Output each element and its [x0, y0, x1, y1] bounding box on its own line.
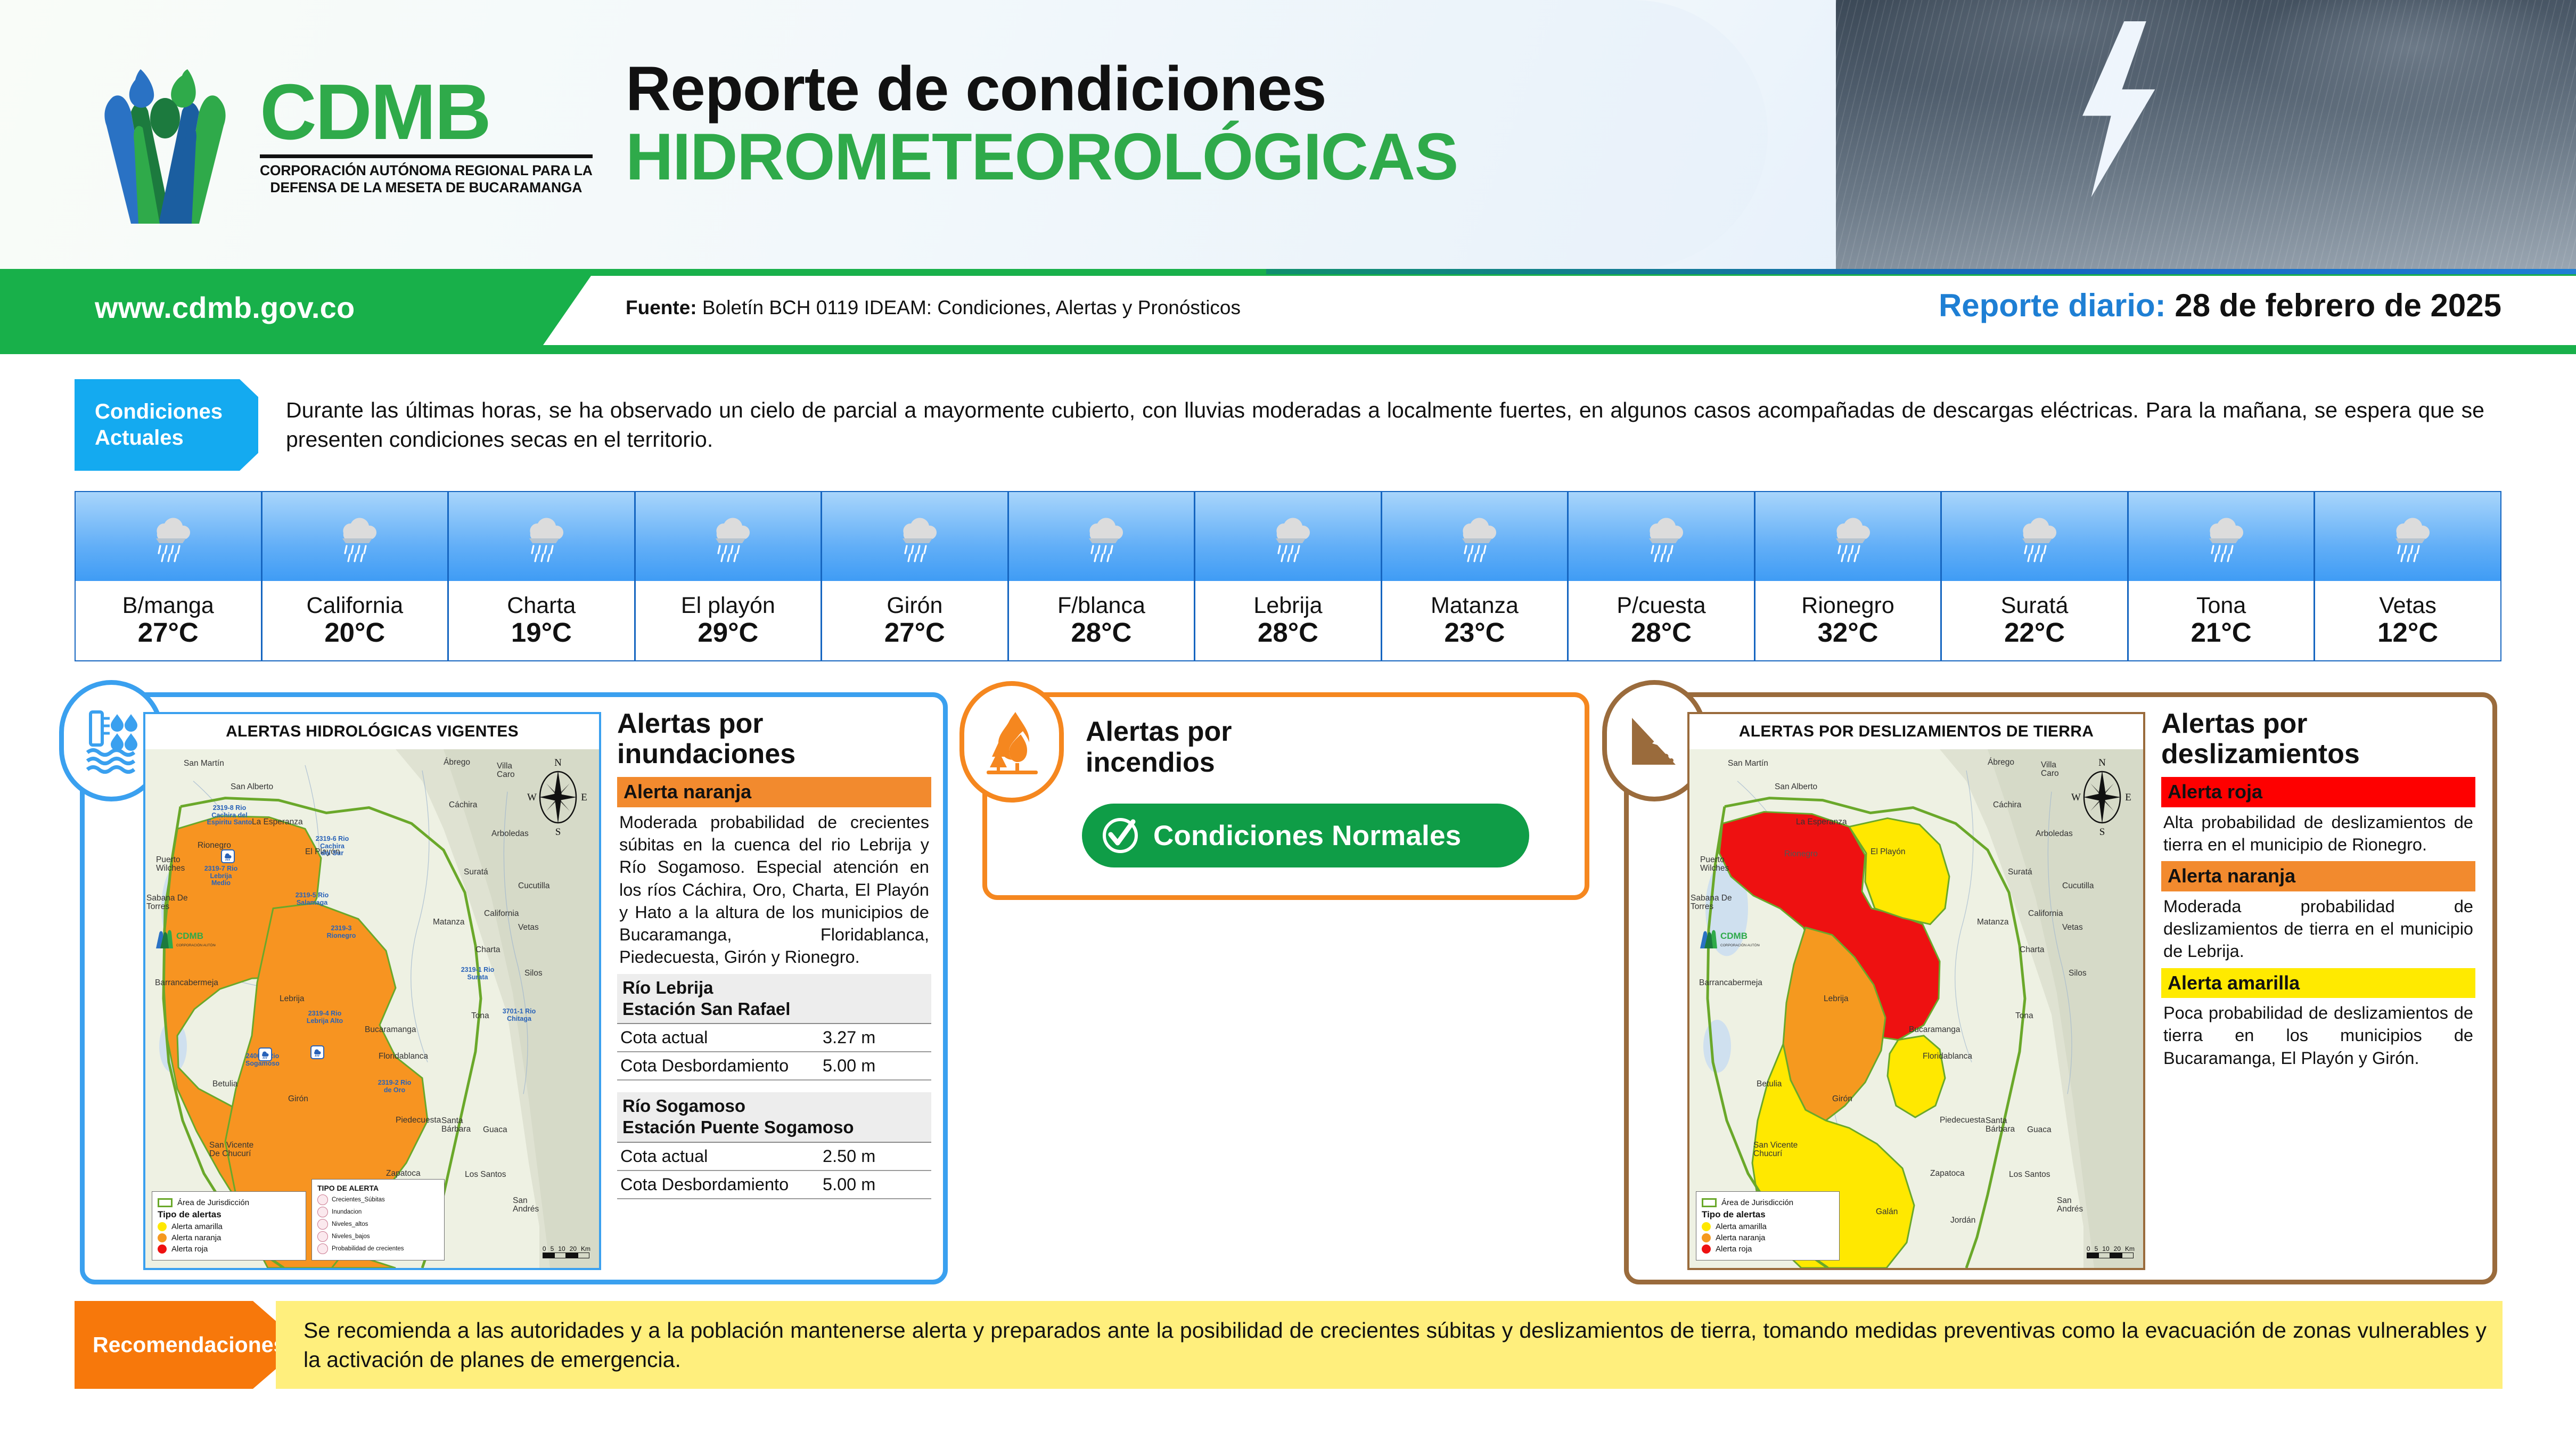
weather-temperature: 27°C [138, 618, 199, 648]
map-label-el-playon: El Playón [1871, 847, 1905, 857]
flood-map-legend-alert-types: Área de Jurisdicción Tipo de alertas Ale… [152, 1191, 306, 1260]
map-label-vetas: Vetas [2062, 923, 2083, 932]
map-label-lebrija: Lebrija [1824, 994, 1849, 1004]
map-label-silos: Silos [2069, 969, 2087, 978]
map-label-zapatoca: Zapatoca [386, 1169, 421, 1178]
report-date-block: Reporte diario: 28 de febrero de 2025 [1939, 287, 2501, 324]
source-value: Boletín BCH 0119 IDEAM: Condiciones, Ale… [702, 297, 1241, 318]
weather-city-name: El playón [681, 594, 775, 618]
flood-map-title: ALERTAS HIDROLÓGICAS VIGENTES [145, 714, 599, 749]
station-row-value: 2.50 m [823, 1147, 924, 1166]
weather-icon-wrap [76, 492, 261, 581]
report-date-label: Reporte diario: [1939, 288, 2166, 323]
scale-num-1: 5 [2095, 1245, 2098, 1252]
weather-icon-wrap [1569, 492, 1754, 581]
weather-info: B/manga27°C [76, 581, 261, 660]
map-label-bucaramanga: Bucaramanga [365, 1025, 416, 1035]
legend-type-row: Niveles_bajos [317, 1231, 439, 1242]
map-label-puerto-wilches: PuertoWilches [1700, 856, 1729, 873]
legend-type-3: Niveles_bajos [332, 1233, 370, 1240]
map-label-san-andres: SanAndrés [2057, 1197, 2083, 1214]
flood-map-canvas: N S E W San Martín San Alberto La Espera… [145, 749, 599, 1268]
flood-heading-line2: inundaciones [617, 739, 795, 769]
weather-cell-lebrija: Lebrija28°C [1195, 492, 1382, 660]
title-line-2: HIDROMETEOROLÓGICAS [626, 122, 1850, 192]
weather-cell-f-blanca: F/blanca28°C [1009, 492, 1196, 660]
legend-type-1: Inundacion [332, 1209, 362, 1215]
weather-cell-gir-n: Girón27°C [822, 492, 1009, 660]
scalebar-numbers: 0 5 10 20 Km [2087, 1245, 2135, 1252]
map-label-betulia: Betulia [1757, 1079, 1782, 1089]
landslide-band-yellow: Alerta amarilla [2161, 968, 2475, 998]
map-station-icon-lebrija-medio [221, 849, 235, 863]
fire-status-badge: Condiciones Normales [1082, 804, 1529, 867]
map-label-surata: Suratá [2008, 867, 2032, 877]
weather-city-name: F/blanca [1057, 594, 1145, 618]
station-river-name: Río Sogamoso [622, 1096, 745, 1116]
map-label-la-esperanza: La Esperanza [1796, 817, 1847, 827]
map-label-piedecuesta: Piedecuesta [396, 1116, 441, 1125]
weather-info: Lebrija28°C [1195, 581, 1381, 660]
station-name: Estación San Rafael [622, 999, 790, 1019]
landslide-alert-details: Alertas por deslizamientos Alerta roja A… [2161, 709, 2475, 1075]
current-conditions-section: Condiciones Actuales Durante las últimas… [75, 379, 2503, 471]
lightning-bolt-icon [2060, 21, 2171, 197]
check-circle-icon [1100, 815, 1141, 856]
legend-type-4: Probabilidad de crecientes [332, 1246, 404, 1252]
map-label-villa-caro: VillaCaro [2041, 761, 2059, 779]
weather-icon-wrap [1382, 492, 1568, 581]
legend-orange-label: Alerta naranja [1716, 1233, 1765, 1242]
landslide-map-legend: Área de Jurisdicción Tipo de alertas Ale… [1696, 1191, 1840, 1260]
landslide-alert-map[interactable]: ALERTAS POR DESLIZAMIENTOS DE TIERRA [1687, 712, 2145, 1270]
page-title: Reporte de condiciones HIDROMETEOROLÓGIC… [626, 56, 1850, 192]
yellow-alert-dot-icon [158, 1222, 167, 1231]
scalebar-ticks [2087, 1252, 2135, 1258]
map-label-lebrija: Lebrija [280, 994, 305, 1004]
map-label-abrego: Ábrego [444, 758, 470, 767]
weather-icon-wrap [2315, 492, 2500, 581]
station-row: Cota Desbordamiento 5.00 m [617, 1052, 931, 1080]
weather-icon-wrap [636, 492, 821, 581]
weather-info: Tona21°C [2129, 581, 2314, 660]
svg-text:N: N [2098, 757, 2106, 768]
jurisdiction-swatch-icon [158, 1198, 173, 1207]
legend-type-row: Inundacion [317, 1207, 439, 1217]
cloud-rain-icon [145, 509, 191, 564]
map-label-los-santos: Los Santos [2009, 1170, 2050, 1180]
map-label-cachira: Cáchira [449, 800, 477, 810]
svg-text:N: N [554, 757, 562, 768]
info-bar-underline [0, 349, 2576, 354]
legend-red-label: Alerta roja [1716, 1245, 1752, 1254]
map-label-galan: Galán [1876, 1207, 1898, 1217]
map-cdmb-watermark: CDMB CORPORACIÓN AUTÓNOMA [1696, 925, 1760, 951]
station-block-sogamoso: Río Sogamoso Estación Puente Sogamoso Co… [617, 1092, 931, 1199]
landslide-alert-panel: ALERTAS POR DESLIZAMIENTOS DE TIERRA [1624, 692, 2497, 1284]
svg-text:S: S [555, 826, 561, 837]
map-label-sabana-de-torres: Sabana DeTorres [1691, 894, 1732, 912]
weather-cell-el-play-n: El playón29°C [636, 492, 823, 660]
legend-jurisdiction-row: Área de Jurisdicción [158, 1198, 300, 1207]
map-river-2319-8: 2319-8 RioCachira delEspiritu Santo [203, 805, 256, 826]
rain-texture [1836, 0, 2576, 269]
storm-photo [1836, 0, 2576, 269]
weather-city-name: Matanza [1431, 594, 1519, 618]
station-row: Cota actual 2.50 m [617, 1143, 931, 1171]
weather-city-name: Charta [507, 594, 576, 618]
map-label-barrancabermeja: Barrancabermeja [1699, 978, 1762, 988]
flood-alert-panel: ALERTAS HIDROLÓGICAS VIGENTES [80, 692, 948, 1284]
weather-city-name: Suratá [2001, 594, 2069, 618]
logo-acronym: CDMB [260, 75, 593, 150]
weather-city-name: P/cuesta [1617, 594, 1705, 618]
legend-type-row: Crecientes_Súbitas [317, 1194, 439, 1205]
legend-jurisdiction-label: Área de Jurisdicción [1721, 1198, 1793, 1207]
weather-icon-wrap [1755, 492, 1941, 581]
map-label-barrancabermeja: Barrancabermeja [155, 978, 218, 988]
legend-type-0: Crecientes_Súbitas [332, 1197, 385, 1203]
map-label-jordan: Jordán [1950, 1216, 1975, 1225]
logo-subtitle-line2: DEFENSA DE LA MESETA DE BUCARAMANGA [260, 179, 593, 196]
legend-item-yellow: Alerta amarilla [1702, 1222, 1834, 1231]
flood-map-scalebar: 0 5 10 20 Km [543, 1245, 590, 1258]
cloud-rain-icon [892, 509, 938, 564]
map-label-arboledas: Arboledas [2036, 829, 2073, 839]
orange-alert-dot-icon [1702, 1233, 1711, 1242]
map-label-charta: Charta [475, 945, 501, 955]
map-label-san-andres: SanAndrés [513, 1197, 539, 1214]
cdmb-logomark-icon [80, 48, 250, 224]
weather-temperature: 12°C [2377, 618, 2438, 648]
scale-unit: Km [2125, 1245, 2135, 1252]
recommendations-section: Recomendaciones: Se recomienda a las aut… [75, 1301, 2503, 1389]
weather-cell-vetas: Vetas12°C [2315, 492, 2500, 660]
weather-city-name: Tona [2196, 594, 2246, 618]
weather-info: Rionegro32°C [1755, 581, 1941, 660]
recommendations-tag: Recomendaciones: [75, 1301, 303, 1389]
map-label-sabana-de-torres: Sabana DeTorres [146, 894, 188, 912]
compass-rose-icon: N S E W [2071, 757, 2134, 837]
station-row-label: Cota actual [620, 1028, 708, 1047]
svg-text:W: W [527, 792, 537, 803]
flood-alert-text: Moderada probabilidad de crecientes súbi… [617, 807, 931, 974]
red-alert-dot-icon [158, 1245, 167, 1254]
map-label-san-vicente: San VicenteChucurí [1753, 1141, 1798, 1159]
report-date-value: 28 de febrero de 2025 [2175, 288, 2501, 323]
landslide-heading: Alertas por deslizamientos [2161, 709, 2475, 769]
map-label-floridablanca: Floridablanca [1923, 1052, 1972, 1061]
weather-info: P/cuesta28°C [1569, 581, 1754, 660]
svg-text:CDMB: CDMB [1720, 931, 1748, 941]
weather-info: Matanza23°C [1382, 581, 1568, 660]
map-cdmb-watermark: CDMB CORPORACIÓN AUTÓNOMA [152, 925, 216, 951]
weather-cell-surat-: Suratá22°C [1942, 492, 2129, 660]
landslide-map-scalebar: 0 5 10 20 Km [2087, 1245, 2135, 1258]
cloud-rain-icon [332, 509, 378, 564]
station-row-value: 5.00 m [823, 1056, 924, 1076]
weather-temperature: 29°C [698, 618, 758, 648]
station-row: Cota actual 3.27 m [617, 1024, 931, 1052]
map-label-vetas: Vetas [518, 923, 539, 932]
weather-icon-wrap [1195, 492, 1381, 581]
map-label-arboledas: Arboledas [491, 829, 529, 839]
map-label-charta: Charta [2020, 945, 2045, 955]
weather-temperature: 23°C [1445, 618, 1505, 648]
map-label-giron: Girón [288, 1094, 308, 1104]
scale-num-2: 10 [558, 1245, 565, 1252]
scale-num-2: 10 [2102, 1245, 2109, 1252]
weather-icon-wrap [2129, 492, 2314, 581]
map-label-betulia: Betulia [212, 1079, 237, 1089]
title-line-1: Reporte de condiciones [626, 56, 1850, 122]
legend-yellow-label: Alerta amarilla [171, 1222, 223, 1231]
map-label-santa-barbara: SantaBárbara [1986, 1117, 2015, 1134]
scale-num-0: 0 [543, 1245, 546, 1252]
map-station-icon-lebrija-alto [310, 1045, 324, 1059]
weather-icon-wrap [449, 492, 634, 581]
current-conditions-body: Durante las últimas horas, se ha observa… [258, 379, 2503, 471]
map-river-3701-1: 3701-1 RioChitaga [499, 1008, 539, 1022]
niveles-bajos-icon [317, 1231, 328, 1242]
map-label-zapatoca: Zapatoca [1930, 1169, 1965, 1178]
logo-divider [260, 154, 593, 158]
station-header-lebrija: Río Lebrija Estación San Rafael [617, 974, 931, 1025]
page-header: CDMB CORPORACIÓN AUTÓNOMA REGIONAL PARA … [0, 0, 2576, 269]
weather-temperature: 28°C [1258, 618, 1318, 648]
map-label-tona: Tona [2015, 1011, 2033, 1021]
fire-alert-panel: Alertas por incendios Condiciones Normal… [982, 692, 1589, 900]
landslide-band-red: Alerta roja [2161, 777, 2475, 807]
landslide-map-title: ALERTAS POR DESLIZAMIENTOS DE TIERRA [1689, 714, 2143, 749]
svg-text:E: E [2125, 792, 2131, 803]
source-label: Fuente: [626, 297, 697, 318]
map-label-san-martin: San Martín [184, 759, 224, 768]
weather-city-name: Rionegro [1801, 594, 1894, 618]
scalebar-ticks [543, 1252, 590, 1258]
source-text: Fuente: Boletín BCH 0119 IDEAM: Condicio… [626, 297, 1241, 319]
legend-jurisdiction-label: Área de Jurisdicción [177, 1198, 249, 1207]
forest-fire-icon [959, 681, 1064, 803]
weather-cell-b-manga: B/manga27°C [76, 492, 262, 660]
legend-red-label: Alerta roja [171, 1245, 208, 1254]
station-row-label: Cota Desbordamiento [620, 1056, 789, 1076]
weather-info: California20°C [262, 581, 448, 660]
weather-info: Vetas12°C [2315, 581, 2500, 660]
cloud-rain-icon [1265, 509, 1311, 564]
station-row-label: Cota Desbordamiento [620, 1175, 789, 1194]
map-label-puerto-wilches: PuertoWilches [156, 856, 185, 873]
station-row: Cota Desbordamiento 5.00 m [617, 1171, 931, 1199]
map-label-san-martin: San Martín [1728, 759, 1768, 768]
map-river-2319-5: 2319-5 RioSalamaga [288, 892, 336, 906]
orange-alert-dot-icon [158, 1233, 167, 1242]
weather-city-name: Vetas [2379, 594, 2436, 618]
alert-panels: ALERTAS HIDROLÓGICAS VIGENTES [0, 686, 2576, 1272]
map-river-2319-2: 2319-2 Riode Oro [373, 1079, 416, 1094]
jurisdiction-swatch-icon [1702, 1198, 1717, 1207]
weather-temperature: 32°C [1818, 618, 1878, 648]
weather-temperature: 19°C [511, 618, 572, 648]
map-label-california: California [484, 909, 519, 919]
map-river-2319-4: 2319-4 RioLebrija Alto [300, 1010, 350, 1025]
station-row-value: 5.00 m [823, 1175, 924, 1194]
cloud-rain-icon [1078, 509, 1124, 564]
map-label-villa-caro: VillaCaro [497, 762, 515, 780]
weather-temperature: 28°C [1071, 618, 1131, 648]
svg-text:CORPORACIÓN AUTÓNOMA: CORPORACIÓN AUTÓNOMA [1720, 943, 1760, 947]
svg-text:S: S [2099, 826, 2105, 837]
landslide-text-red: Alta probabilidad de deslizamientos de t… [2161, 807, 2475, 862]
map-label-rionegro: Rionegro [1784, 849, 1818, 859]
svg-text:E: E [581, 792, 587, 803]
map-label-santa-barbara: SantaBárbara [441, 1117, 471, 1134]
weather-icon-wrap [822, 492, 1007, 581]
map-label-california: California [2028, 909, 2063, 919]
map-label-abrego: Ábrego [1988, 758, 2014, 767]
inundacion-icon [317, 1207, 328, 1217]
logo-subtitle-line1: CORPORACIÓN AUTÓNOMA REGIONAL PARA LA [260, 162, 593, 179]
info-bar: www.cdmb.gov.co Fuente: Boletín BCH 0119… [0, 269, 2576, 351]
fire-status-text: Condiciones Normales [1153, 820, 1461, 852]
compass-rose-icon: N S E W [527, 757, 589, 837]
landslide-heading-line1: Alertas por [2161, 708, 2308, 739]
website-link[interactable]: www.cdmb.gov.co [95, 290, 355, 325]
map-label-los-santos: Los Santos [465, 1170, 506, 1180]
map-label-surata: Suratá [464, 867, 488, 877]
landslide-band-orange: Alerta naranja [2161, 861, 2475, 891]
map-river-2319-3: 2319-3Rionegro [320, 925, 363, 939]
current-conditions-text: Durante las últimas horas, se ha observa… [286, 396, 2484, 454]
niveles-altos-icon [317, 1219, 328, 1230]
scale-num-3: 20 [570, 1245, 577, 1252]
weather-city-name: Girón [887, 594, 942, 618]
scale-unit: Km [581, 1245, 590, 1252]
weather-cell-california: California20°C [262, 492, 449, 660]
cloud-rain-icon [2385, 509, 2431, 564]
cloud-rain-icon [2198, 509, 2244, 564]
flood-alert-details: Alertas por inundaciones Alerta naranja … [617, 709, 931, 1199]
weather-cell-charta: Charta19°C [449, 492, 636, 660]
station-spacer [617, 1080, 931, 1092]
map-label-cucutilla: Cucutilla [2062, 881, 2094, 891]
map-label-tona: Tona [471, 1011, 489, 1021]
landslide-heading-line2: deslizamientos [2161, 739, 2360, 769]
weather-cell-p-cuesta: P/cuesta28°C [1569, 492, 1755, 660]
map-label-cachira: Cáchira [1993, 800, 2021, 810]
cdmb-logo: CDMB CORPORACIÓN AUTÓNOMA REGIONAL PARA … [80, 43, 639, 229]
landslide-text-orange: Moderada probabilidad de deslizamientos … [2161, 891, 2475, 968]
current-conditions-tag: Condiciones Actuales [75, 379, 288, 471]
cloud-rain-icon [519, 509, 564, 564]
weather-temperature: 22°C [2004, 618, 2065, 648]
legend-types-title: TIPO DE ALERTA [317, 1184, 439, 1192]
map-label-matanza: Matanza [433, 918, 464, 927]
weather-city-name: B/manga [122, 594, 214, 618]
legend-item-red: Alerta roja [158, 1245, 300, 1254]
map-label-san-alberto: San Alberto [1775, 782, 1817, 792]
map-label-floridablanca: Floridablanca [379, 1052, 428, 1061]
weather-icon-wrap [262, 492, 448, 581]
flood-alert-map[interactable]: ALERTAS HIDROLÓGICAS VIGENTES [143, 712, 601, 1270]
cloud-rain-icon [2012, 509, 2057, 564]
map-station-icon-sogamoso [258, 1047, 272, 1061]
weather-info: Girón27°C [822, 581, 1007, 660]
map-label-cucutilla: Cucutilla [518, 881, 549, 891]
weather-city-name: Lebrija [1253, 594, 1322, 618]
weather-forecast-strip: B/manga27°C California20°C [75, 491, 2501, 661]
weather-info: El playón29°C [636, 581, 821, 660]
svg-text:CDMB: CDMB [176, 931, 203, 941]
red-alert-dot-icon [1702, 1245, 1711, 1254]
station-river-name: Río Lebrija [622, 978, 713, 997]
cloud-rain-icon [1451, 509, 1497, 564]
weather-info: Suratá22°C [1942, 581, 2127, 660]
yellow-alert-dot-icon [1702, 1222, 1711, 1231]
flood-heading-line1: Alertas por [617, 708, 764, 739]
weather-info: F/blanca28°C [1009, 581, 1194, 660]
flood-alert-band: Alerta naranja [617, 777, 931, 807]
weather-temperature: 20°C [324, 618, 385, 648]
weather-cell-matanza: Matanza23°C [1382, 492, 1569, 660]
svg-text:W: W [2071, 792, 2081, 803]
fire-heading-line1: Alertas por [1086, 716, 1232, 747]
map-label-bucaramanga: Bucaramanga [1909, 1025, 1960, 1035]
scalebar-numbers: 0 5 10 20 Km [543, 1245, 590, 1252]
scale-num-0: 0 [2087, 1245, 2090, 1252]
scale-num-1: 5 [551, 1245, 554, 1252]
legend-type-row: Niveles_altos [317, 1219, 439, 1230]
map-label-piedecuesta: Piedecuesta [1940, 1116, 1985, 1125]
station-block-lebrija: Río Lebrija Estación San Rafael Cota act… [617, 974, 931, 1081]
map-label-giron: Girón [1832, 1094, 1852, 1104]
scale-num-3: 20 [2114, 1245, 2121, 1252]
map-label-san-alberto: San Alberto [231, 782, 273, 792]
weather-info: Charta19°C [449, 581, 634, 660]
flood-heading: Alertas por inundaciones [617, 709, 931, 769]
weather-cell-rionegro: Rionegro32°C [1755, 492, 1942, 660]
weather-city-name: California [306, 594, 403, 618]
legend-item-orange: Alerta naranja [158, 1233, 300, 1242]
legend-orange-label: Alerta naranja [171, 1233, 221, 1242]
map-label-guaca: Guaca [2027, 1125, 2052, 1135]
landslide-map-canvas: N S E W San Martín San Alberto La Espera… [1689, 749, 2143, 1268]
map-label-guaca: Guaca [483, 1125, 507, 1135]
map-label-silos: Silos [524, 969, 543, 978]
weather-cell-tona: Tona21°C [2129, 492, 2316, 660]
legend-type-2: Niveles_altos [332, 1221, 368, 1227]
fire-heading-line2: incendios [1086, 747, 1215, 778]
weather-temperature: 21°C [2191, 618, 2252, 648]
station-name: Estación Puente Sogamoso [622, 1117, 854, 1137]
recommendations-tag-label: Recomendaciones: [93, 1332, 293, 1357]
probabilidad-crecientes-icon [317, 1243, 328, 1254]
legend-yellow-label: Alerta amarilla [1716, 1222, 1767, 1231]
legend-item-red: Alerta roja [1702, 1245, 1834, 1254]
weather-icon-wrap [1942, 492, 2127, 581]
map-river-2319-1: 2319-1 RioSurata [456, 967, 499, 981]
legend-title: Tipo de alertas [158, 1209, 300, 1220]
legend-jurisdiction-row: Área de Jurisdicción [1702, 1198, 1834, 1207]
map-label-la-esperanza: La Esperanza [252, 817, 303, 827]
legend-item-orange: Alerta naranja [1702, 1233, 1834, 1242]
svg-text:CORPORACIÓN AUTÓNOMA: CORPORACIÓN AUTÓNOMA [176, 943, 216, 947]
station-row-value: 3.27 m [823, 1028, 924, 1047]
gradient-accent [1266, 269, 2576, 274]
cloud-rain-icon [1825, 509, 1871, 564]
map-river-2319-7: 2319-7 RioLebrijaMedio [199, 865, 243, 887]
cloud-rain-icon [705, 509, 751, 564]
